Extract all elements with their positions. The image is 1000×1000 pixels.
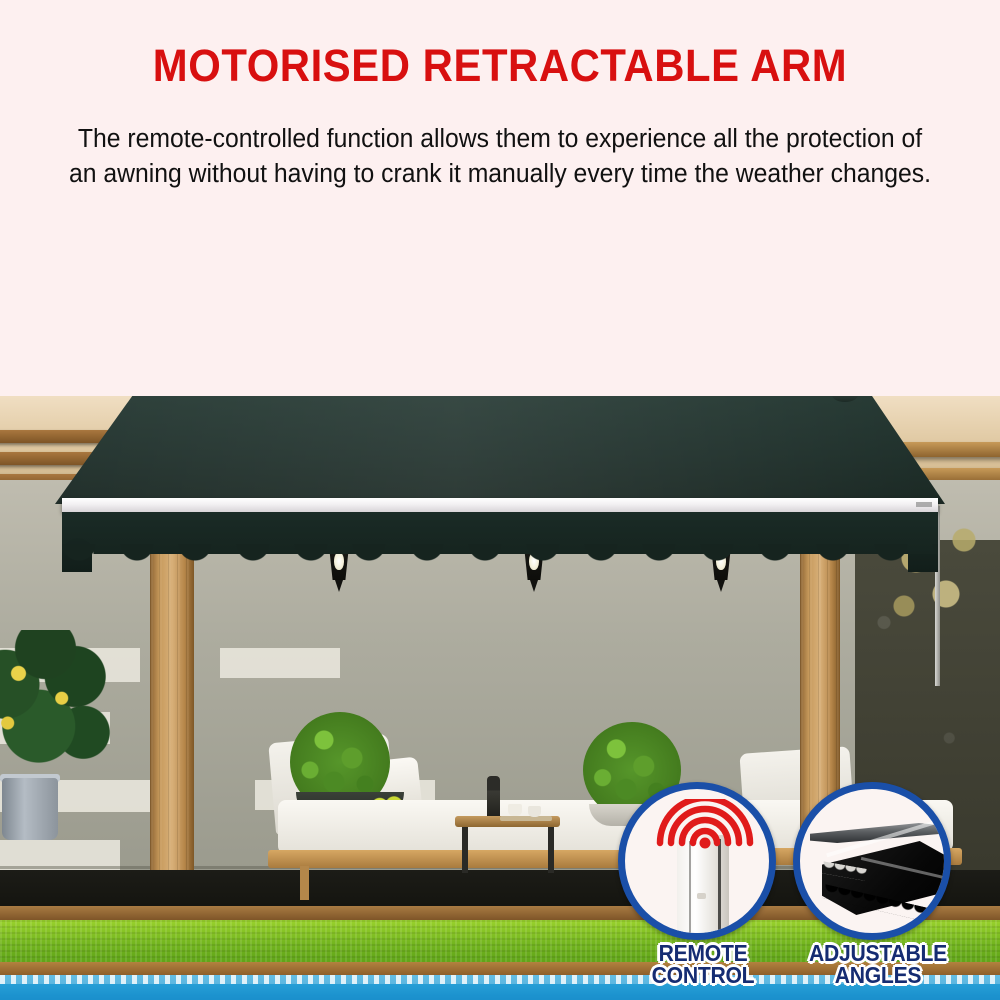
badge-label: ADJUSTABLE ANGLES bbox=[800, 942, 956, 986]
signal-waves-icon bbox=[649, 799, 761, 873]
badge-label-line: REMOTE bbox=[625, 942, 781, 964]
badge-label-line: CONTROL bbox=[625, 964, 781, 986]
badge-label-line: ADJUSTABLE bbox=[800, 942, 956, 964]
badge-adjustable-angles[interactable]: ADJUSTABLE ANGLES bbox=[793, 782, 963, 986]
badge-circle bbox=[618, 782, 776, 940]
badge-label-line: ANGLES bbox=[800, 964, 956, 986]
product-feature-banner: MOTORISED RETRACTABLE ARM The remote-con… bbox=[0, 0, 1000, 1000]
badge-remote-control[interactable]: REMOTE CONTROL bbox=[618, 782, 788, 986]
feature-badges: REMOTE CONTROL ADJUSTABLE ANGLES bbox=[0, 0, 1000, 1000]
remote-button bbox=[697, 893, 706, 899]
badge-label: REMOTE CONTROL bbox=[625, 942, 781, 986]
badge-circle bbox=[793, 782, 951, 940]
